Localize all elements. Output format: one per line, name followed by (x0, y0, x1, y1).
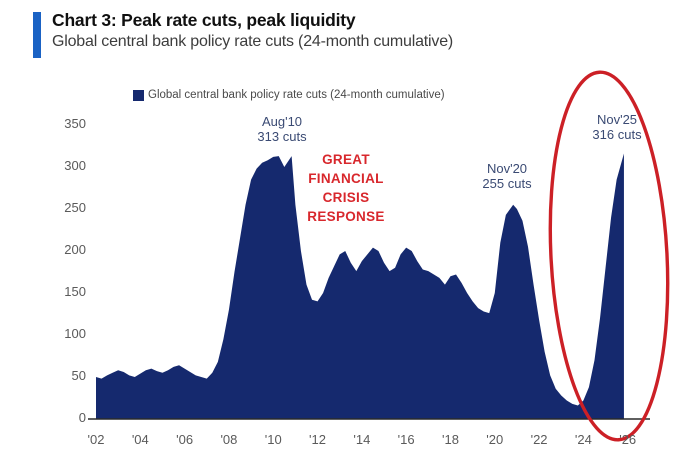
annotation-gfc-line1: GREAT (291, 150, 401, 169)
x-axis-tick-26: '26 (608, 432, 648, 447)
plot-area (0, 0, 680, 456)
y-axis-tick-250: 250 (42, 200, 86, 215)
x-axis-tick-22: '22 (519, 432, 559, 447)
annotation-peak-2025-line1: Nov'25 (562, 112, 672, 127)
x-axis-tick-08: '08 (209, 432, 249, 447)
x-axis-tick-18: '18 (430, 432, 470, 447)
annotation-gfc-response: GREAT FINANCIAL CRISIS RESPONSE (291, 150, 401, 227)
x-axis-tick-06: '06 (165, 432, 205, 447)
x-axis-tick-12: '12 (298, 432, 338, 447)
annotation-peak-2020: Nov'20 255 cuts (452, 161, 562, 192)
y-axis-tick-300: 300 (42, 158, 86, 173)
y-axis-tick-200: 200 (42, 242, 86, 257)
y-axis-tick-50: 50 (42, 368, 86, 383)
x-axis-tick-20: '20 (475, 432, 515, 447)
x-axis-tick-04: '04 (120, 432, 160, 447)
x-axis-tick-14: '14 (342, 432, 382, 447)
y-axis-tick-100: 100 (42, 326, 86, 341)
chart-svg (0, 0, 680, 456)
chart-screenshot: Chart 3: Peak rate cuts, peak liquidity … (0, 0, 680, 456)
annotation-peak-2025: Nov'25 316 cuts (562, 112, 672, 143)
annotation-gfc-line4: RESPONSE (291, 207, 401, 226)
annotation-peak-2025-line2: 316 cuts (562, 127, 672, 142)
annotation-peak-2010-line2: 313 cuts (222, 129, 342, 144)
x-axis-tick-10: '10 (253, 432, 293, 447)
annotation-peak-2020-line1: Nov'20 (452, 161, 562, 176)
annotation-peak-2010: Aug'10 313 cuts (222, 114, 342, 145)
y-axis-tick-0: 0 (42, 410, 86, 425)
x-axis-tick-16: '16 (386, 432, 426, 447)
annotation-gfc-line3: CRISIS (291, 188, 401, 207)
y-axis-tick-350: 350 (42, 116, 86, 131)
annotation-gfc-line2: FINANCIAL (291, 169, 401, 188)
annotation-peak-2010-line1: Aug'10 (222, 114, 342, 129)
annotation-peak-2020-line2: 255 cuts (452, 176, 562, 191)
x-axis-tick-24: '24 (563, 432, 603, 447)
x-axis-tick-02: '02 (76, 432, 116, 447)
y-axis-tick-150: 150 (42, 284, 86, 299)
